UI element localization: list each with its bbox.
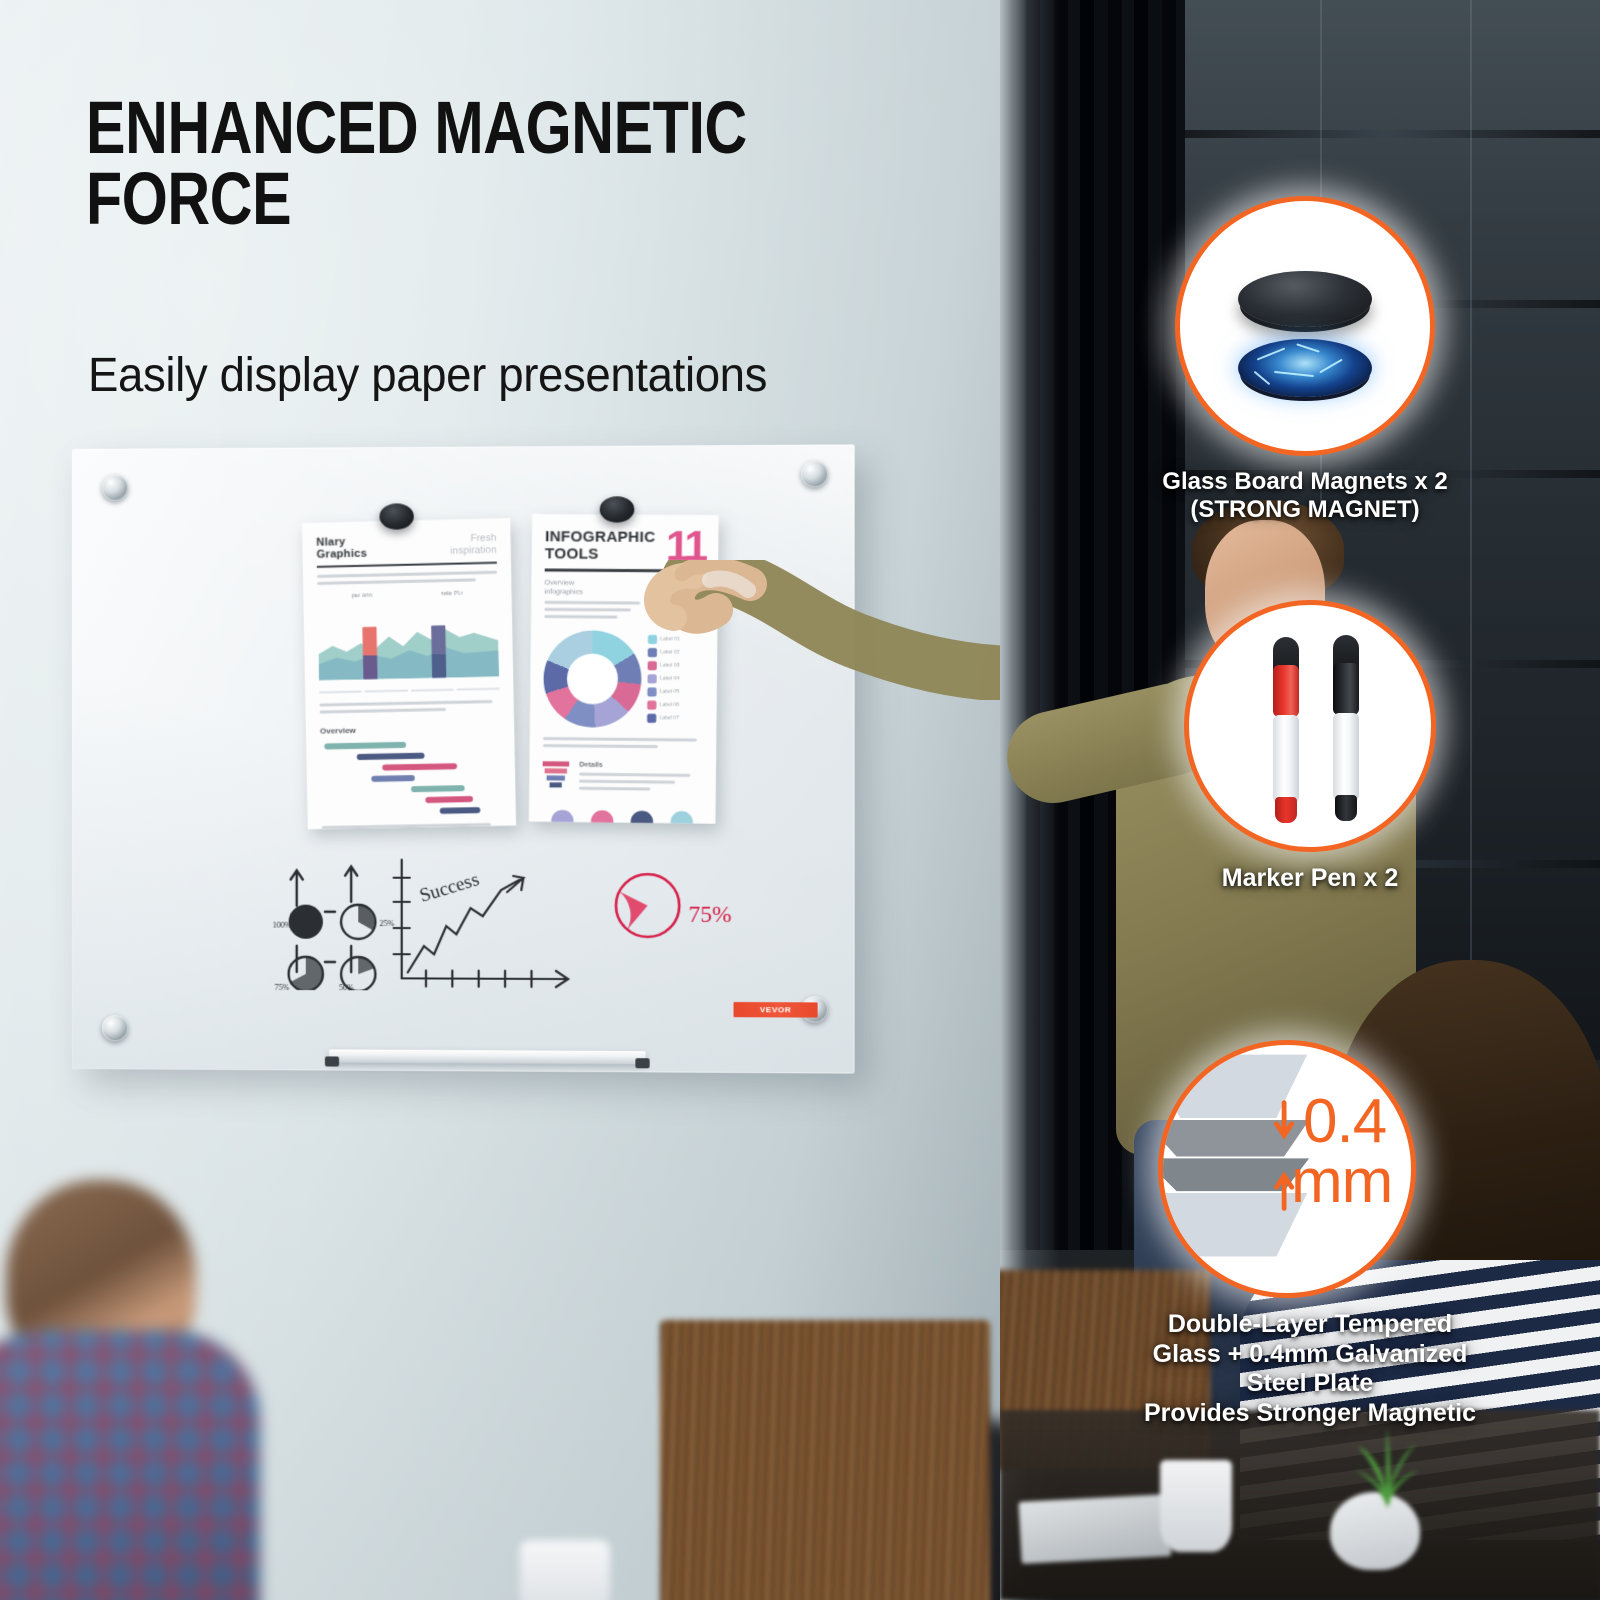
pen-black-barrel-upper <box>1333 663 1359 715</box>
text-line <box>317 578 475 585</box>
area-chart <box>318 606 500 688</box>
presenter-arm <box>600 560 1000 700</box>
plant-icon <box>1352 1420 1422 1508</box>
pen-red-barrel-lower <box>1273 715 1299 803</box>
pen-red-tip <box>1275 797 1297 823</box>
brand-label: VEVOR <box>734 1002 818 1018</box>
foreground-seated-person <box>0 1180 290 1600</box>
funnel-icon <box>542 761 569 794</box>
magnet-bottom-disc <box>1238 339 1372 397</box>
standoff-screw-icon <box>102 1015 128 1041</box>
magnet-disc-icon <box>1175 196 1435 456</box>
doc-title: INFOGRAPHIC TOOLS <box>545 528 656 564</box>
cup <box>1160 1460 1232 1552</box>
svg-text:25%: 25% <box>379 919 394 928</box>
page-subtitle: Easily display paper presentations <box>88 348 943 403</box>
text-line <box>317 571 497 578</box>
standoff-screw-icon <box>801 461 828 488</box>
pen-black-tip <box>1335 795 1357 821</box>
doc-detail-heading: Details <box>579 761 703 769</box>
doc-section-label: Overview <box>320 723 500 736</box>
cup <box>520 1540 610 1600</box>
paper-document: Nlary Graphics Fresh inspiration per ann… <box>302 518 516 829</box>
office-scene-panel: Glass Board Magnets x 2 (STRONG MAGNET) … <box>1000 0 1600 1600</box>
callout-magnets: Glass Board Magnets x 2 (STRONG MAGNET) <box>1140 196 1470 525</box>
marker-pen-icon <box>1184 600 1436 852</box>
glass-layer-diagram-icon: 0.4 mm <box>1158 1040 1416 1298</box>
steel-plate-upper <box>1163 1120 1309 1157</box>
marker-tray <box>329 1049 646 1064</box>
standoff-screw-icon <box>102 475 128 501</box>
callout-caption: Marker Pen x 2 <box>1165 864 1455 894</box>
bar <box>362 627 377 680</box>
handdrawn-sketch: 100% 25% 75% 50% Success <box>273 849 577 991</box>
magnet-top-disc <box>1238 271 1372 327</box>
red-pie-annotation: 75% <box>607 865 760 946</box>
steel-plate-lower <box>1163 1158 1309 1191</box>
svg-text:100%: 100% <box>273 921 292 930</box>
doc-title: Nlary Graphics <box>316 536 367 561</box>
magnet-icon <box>600 496 635 522</box>
divider <box>317 562 497 568</box>
product-feature-banner: ENHANCED MAGNETIC FORCE Easily display p… <box>0 0 1600 1600</box>
bar <box>431 625 446 678</box>
callout-caption: Double-Layer Tempered Glass + 0.4mm Galv… <box>1110 1310 1510 1428</box>
svg-text:Success: Success <box>417 869 482 907</box>
doc-big-number: 11 <box>666 529 706 563</box>
legend-label: Label 06 <box>659 702 679 708</box>
magnet-icon <box>379 503 413 529</box>
chart-label: per ann <box>352 593 373 599</box>
svg-text:75%: 75% <box>688 902 731 927</box>
pen-black-barrel-lower <box>1333 713 1359 801</box>
pen-red-barrel-upper <box>1273 665 1299 717</box>
text-line <box>320 708 446 714</box>
gantt-chart <box>320 740 501 816</box>
legend-label: Label 07 <box>659 715 679 721</box>
glass-whiteboard: Nlary Graphics Fresh inspiration per ann… <box>72 444 855 1073</box>
wooden-chair <box>660 1320 990 1600</box>
notebook <box>1018 1494 1171 1564</box>
room-scene-panel: ENHANCED MAGNETIC FORCE Easily display p… <box>0 0 1000 1600</box>
plaid-shirt <box>0 1330 260 1600</box>
svg-text:50%: 50% <box>339 983 354 991</box>
callout-thickness: 0.4 mm Double-Layer Tempered Glass + 0.4… <box>1110 1040 1510 1428</box>
chart-label: sale Pl.r <box>441 591 463 598</box>
text-line <box>319 700 492 707</box>
doc-ghost-title: Fresh inspiration <box>450 533 497 557</box>
measure-unit: mm <box>1291 1153 1392 1210</box>
doc-subtitle: Overview infographics <box>544 578 583 597</box>
callout-caption: Glass Board Magnets x 2 (STRONG MAGNET) <box>1140 468 1470 525</box>
measure-value: 0.4 <box>1303 1093 1386 1150</box>
callout-markers: Marker Pen x 2 <box>1165 600 1455 894</box>
page-title: ENHANCED MAGNETIC FORCE <box>86 92 774 234</box>
